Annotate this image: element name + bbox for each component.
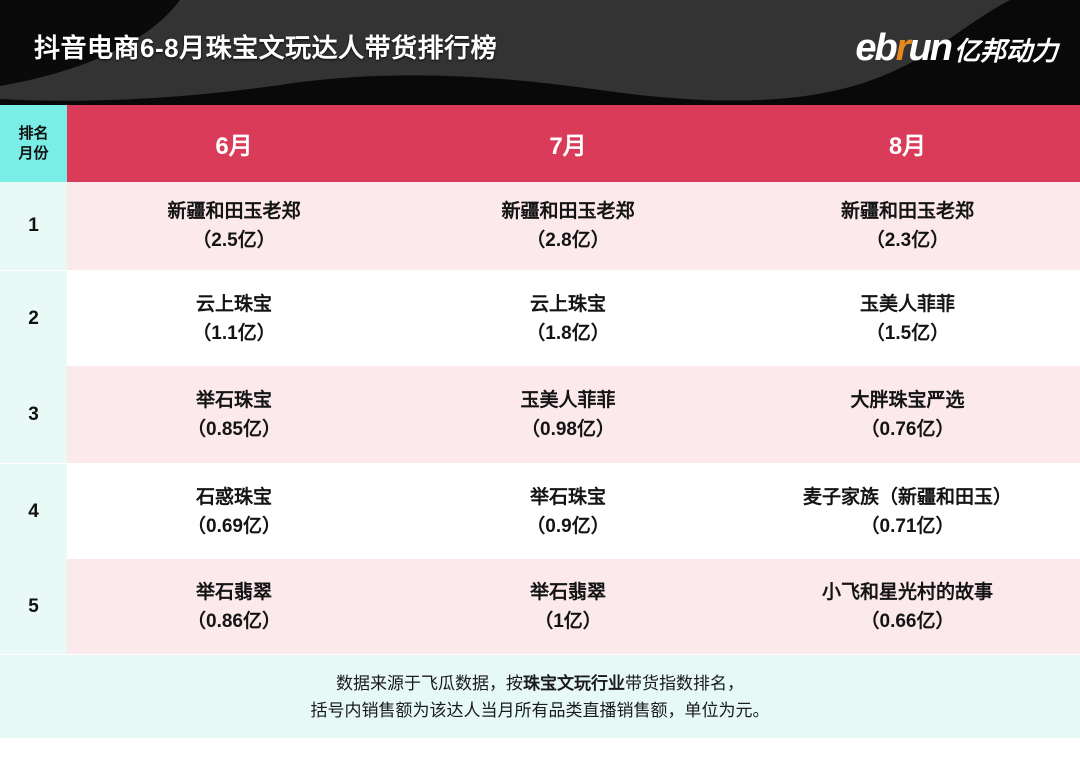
logo-text-un: un — [909, 28, 951, 68]
rank-cell: 1 — [0, 182, 67, 271]
data-cell-august: 玉美人菲菲 （1.5亿） — [735, 271, 1080, 367]
creator-value: （0.71亿） — [735, 512, 1080, 541]
creator-name: 新疆和田玉老郑 — [735, 197, 1080, 226]
footnote-line-2: 括号内销售额为该达人当月所有品类直播销售额，单位为元。 — [311, 697, 770, 724]
data-cell-july: 云上珠宝 （1.8亿） — [401, 271, 735, 367]
creator-value: （0.9亿） — [401, 512, 735, 541]
table-row: 5 举石翡翠 （0.86亿） 举石翡翠 （1亿） 小飞和星光村的故事 （0.66… — [0, 559, 1080, 655]
header-month-june: 6月 — [67, 105, 401, 182]
rank-cell: 2 — [0, 271, 67, 367]
table-row: 1 新疆和田玉老郑 （2.5亿） 新疆和田玉老郑 （2.8亿） 新疆和田玉老郑 … — [0, 182, 1080, 271]
footnote: 数据来源于飞瓜数据，按珠宝文玩行业带货指数排名， 括号内销售额为该达人当月所有品… — [0, 655, 1080, 738]
data-cell-july: 新疆和田玉老郑 （2.8亿） — [401, 182, 735, 271]
ranking-table: 排名 月份 6月 7月 8月 1 新疆和田玉老郑 （2.5亿） 新疆和田玉老郑 … — [0, 105, 1080, 655]
header-corner-rank-month: 排名 月份 — [0, 105, 67, 182]
creator-value: （2.5亿） — [67, 226, 401, 255]
creator-name: 新疆和田玉老郑 — [67, 197, 401, 226]
footnote-line-1: 数据来源于飞瓜数据，按珠宝文玩行业带货指数排名， — [336, 670, 744, 697]
data-cell-july: 举石珠宝 （0.9亿） — [401, 464, 735, 560]
data-cell-june: 云上珠宝 （1.1亿） — [67, 271, 401, 367]
creator-name: 小飞和星光村的故事 — [735, 578, 1080, 607]
creator-name: 玉美人菲菲 — [735, 290, 1080, 319]
creator-value: （2.8亿） — [401, 226, 735, 255]
data-cell-july: 举石翡翠 （1亿） — [401, 559, 735, 655]
creator-name: 云上珠宝 — [401, 290, 735, 319]
creator-name: 大胖珠宝严选 — [735, 386, 1080, 415]
creator-value: （1.5亿） — [735, 319, 1080, 348]
logo-text-chinese: 亿邦动力 — [954, 31, 1058, 71]
header-month-july: 7月 — [401, 105, 735, 182]
data-cell-august: 大胖珠宝严选 （0.76亿） — [735, 366, 1080, 464]
creator-value: （0.85亿） — [67, 415, 401, 444]
creator-value: （0.69亿） — [67, 512, 401, 541]
creator-name: 举石珠宝 — [67, 386, 401, 415]
creator-name: 麦子家族（新疆和田玉） — [735, 483, 1080, 512]
data-cell-august: 麦子家族（新疆和田玉） （0.71亿） — [735, 464, 1080, 560]
creator-value: （0.66亿） — [735, 607, 1080, 636]
creator-name: 新疆和田玉老郑 — [401, 197, 735, 226]
footnote-source-prefix: 数据来源于飞瓜数据，按 — [336, 674, 523, 693]
data-cell-july: 玉美人菲菲 （0.98亿） — [401, 366, 735, 464]
data-cell-june: 举石珠宝 （0.85亿） — [67, 366, 401, 464]
table-row: 4 石惑珠宝 （0.69亿） 举石珠宝 （0.9亿） 麦子家族（新疆和田玉） （… — [0, 464, 1080, 560]
creator-name: 举石翡翠 — [401, 578, 735, 607]
header-corner-month-label: 月份 — [0, 144, 67, 164]
creator-value: （1.8亿） — [401, 319, 735, 348]
table-header-row: 排名 月份 6月 7月 8月 — [0, 105, 1080, 182]
creator-value: （2.3亿） — [735, 226, 1080, 255]
creator-name: 举石珠宝 — [401, 483, 735, 512]
rank-cell: 5 — [0, 559, 67, 655]
rank-cell: 4 — [0, 464, 67, 560]
creator-name: 云上珠宝 — [67, 290, 401, 319]
header-month-august: 8月 — [735, 105, 1080, 182]
logo-text-eb: eb — [855, 28, 895, 68]
creator-value: （0.86亿） — [67, 607, 401, 636]
header-corner-rank-label: 排名 — [0, 124, 67, 144]
table-row: 2 云上珠宝 （1.1亿） 云上珠宝 （1.8亿） 玉美人菲菲 （1.5亿） — [0, 271, 1080, 367]
header-banner: 抖音电商6-8月珠宝文玩达人带货排行榜 eb r un 亿邦动力 — [0, 0, 1080, 105]
data-cell-june: 举石翡翠 （0.86亿） — [67, 559, 401, 655]
data-cell-august: 新疆和田玉老郑 （2.3亿） — [735, 182, 1080, 271]
data-cell-august: 小飞和星光村的故事 （0.66亿） — [735, 559, 1080, 655]
rank-cell: 3 — [0, 366, 67, 464]
creator-name: 举石翡翠 — [67, 578, 401, 607]
page-title: 抖音电商6-8月珠宝文玩达人带货排行榜 — [34, 31, 497, 65]
ebrun-logo: eb r un 亿邦动力 — [855, 28, 1058, 71]
creator-name: 石惑珠宝 — [67, 483, 401, 512]
creator-value: （0.98亿） — [401, 415, 735, 444]
creator-value: （0.76亿） — [735, 415, 1080, 444]
creator-name: 玉美人菲菲 — [401, 386, 735, 415]
data-cell-june: 新疆和田玉老郑 （2.5亿） — [67, 182, 401, 271]
logo-text-r: r — [896, 28, 909, 68]
footnote-industry-emphasis: 珠宝文玩行业 — [523, 674, 625, 693]
data-cell-june: 石惑珠宝 （0.69亿） — [67, 464, 401, 560]
creator-value: （1.1亿） — [67, 319, 401, 348]
footnote-source-suffix: 带货指数排名， — [625, 674, 744, 693]
creator-value: （1亿） — [401, 607, 735, 636]
table-row: 3 举石珠宝 （0.85亿） 玉美人菲菲 （0.98亿） 大胖珠宝严选 （0.7… — [0, 366, 1080, 464]
